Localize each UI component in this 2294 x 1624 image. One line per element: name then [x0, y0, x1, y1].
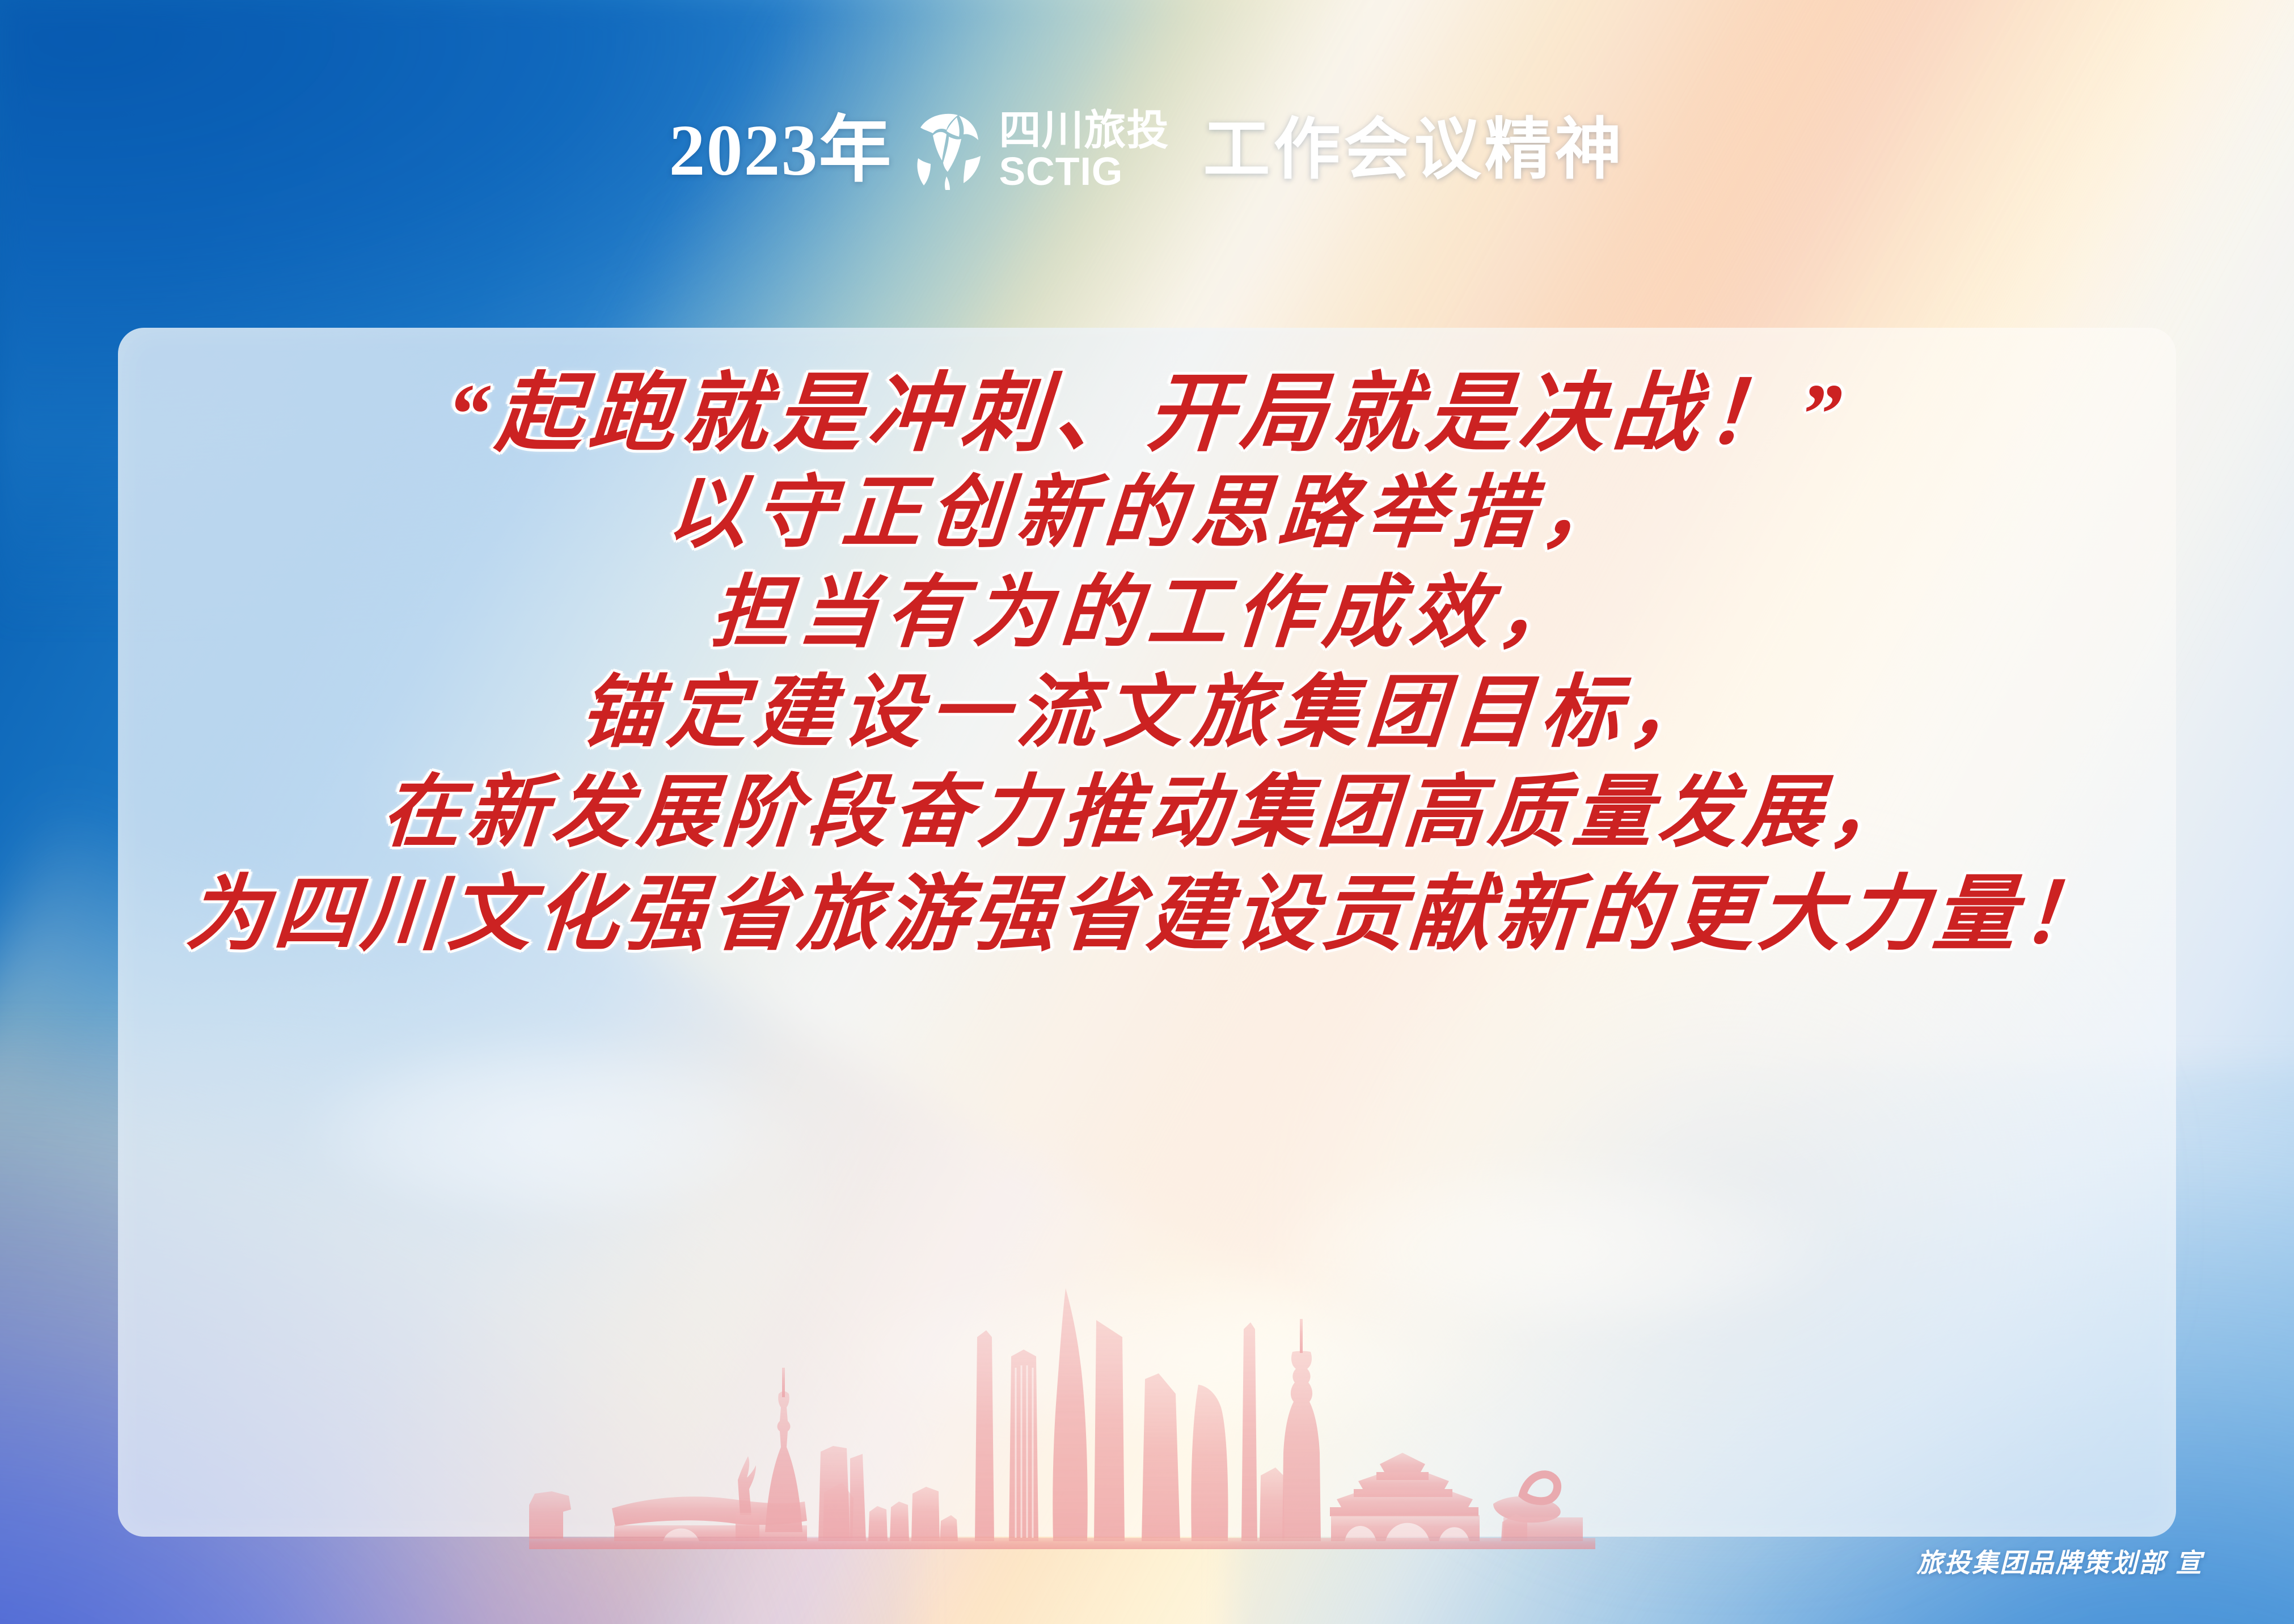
- content-panel: [118, 328, 2176, 1537]
- brand-logo: 四川旅投 SCTIG: [914, 111, 1169, 191]
- brand-logo-text: 四川旅投 SCTIG: [999, 111, 1169, 191]
- header-title: 工作会议精神: [1203, 117, 1625, 184]
- brand-name-cn: 四川旅投: [999, 111, 1169, 150]
- brand-name-en: SCTIG: [999, 153, 1169, 191]
- poster-canvas: 2023年 四川旅投 SCTIG 工作会议精神: [0, 0, 2294, 1624]
- poster-header: 2023年 四川旅投 SCTIG 工作会议精神: [0, 96, 2294, 204]
- credit-line: 旅投集团品牌策划部 宣: [1916, 1542, 2203, 1580]
- globe-panda-logo-icon: [914, 111, 988, 190]
- header-year: 2023年: [669, 114, 892, 187]
